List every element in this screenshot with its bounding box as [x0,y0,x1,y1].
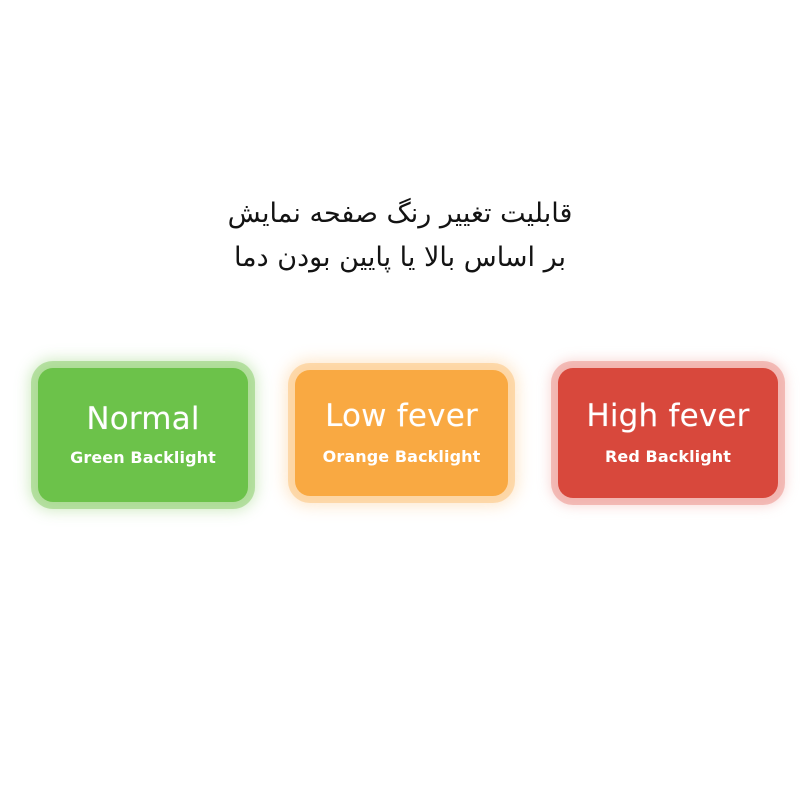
backlight-card-normal-subtitle: Green Backlight [70,450,216,466]
backlight-card-high-fever-subtitle: Red Backlight [605,449,731,465]
product-feature-graphic: قابلیت تغییر رنگ صفحه نمایش بر اساس بالا… [0,0,800,800]
backlight-card-low-fever-subtitle: Orange Backlight [323,449,481,465]
headline-line-1: قابلیت تغییر رنگ صفحه نمایش [0,192,800,236]
backlight-card-high-fever: High fever Red Backlight [558,368,778,498]
backlight-card-row: Normal Green Backlight Low fever Orange … [0,360,800,510]
headline-line-2: بر اساس بالا یا پایین بودن دما [0,236,800,280]
backlight-card-low-fever-title: Low fever [325,401,478,432]
backlight-card-low-fever: Low fever Orange Backlight [295,370,508,496]
backlight-card-high-fever-title: High fever [586,401,749,432]
headline: قابلیت تغییر رنگ صفحه نمایش بر اساس بالا… [0,192,800,280]
backlight-card-normal: Normal Green Backlight [38,368,248,502]
backlight-card-normal-title: Normal [86,404,199,435]
